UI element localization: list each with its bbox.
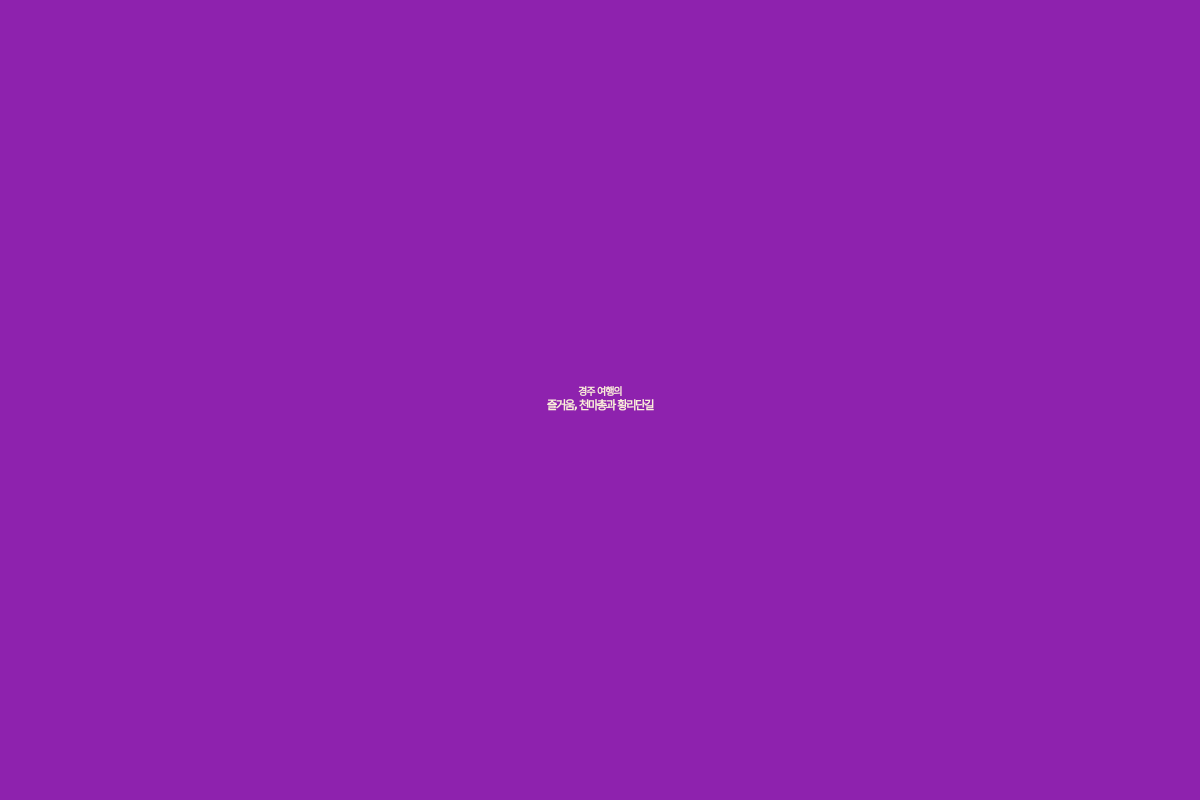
title-line-2: 즐거움, 천마총과 황리단길: [14, 399, 1186, 413]
title-text-block: 경주 여행의 즐거움, 천마총과 황리단길: [0, 387, 1200, 413]
title-card-canvas: 경주 여행의 즐거움, 천마총과 황리단길: [0, 0, 1200, 800]
